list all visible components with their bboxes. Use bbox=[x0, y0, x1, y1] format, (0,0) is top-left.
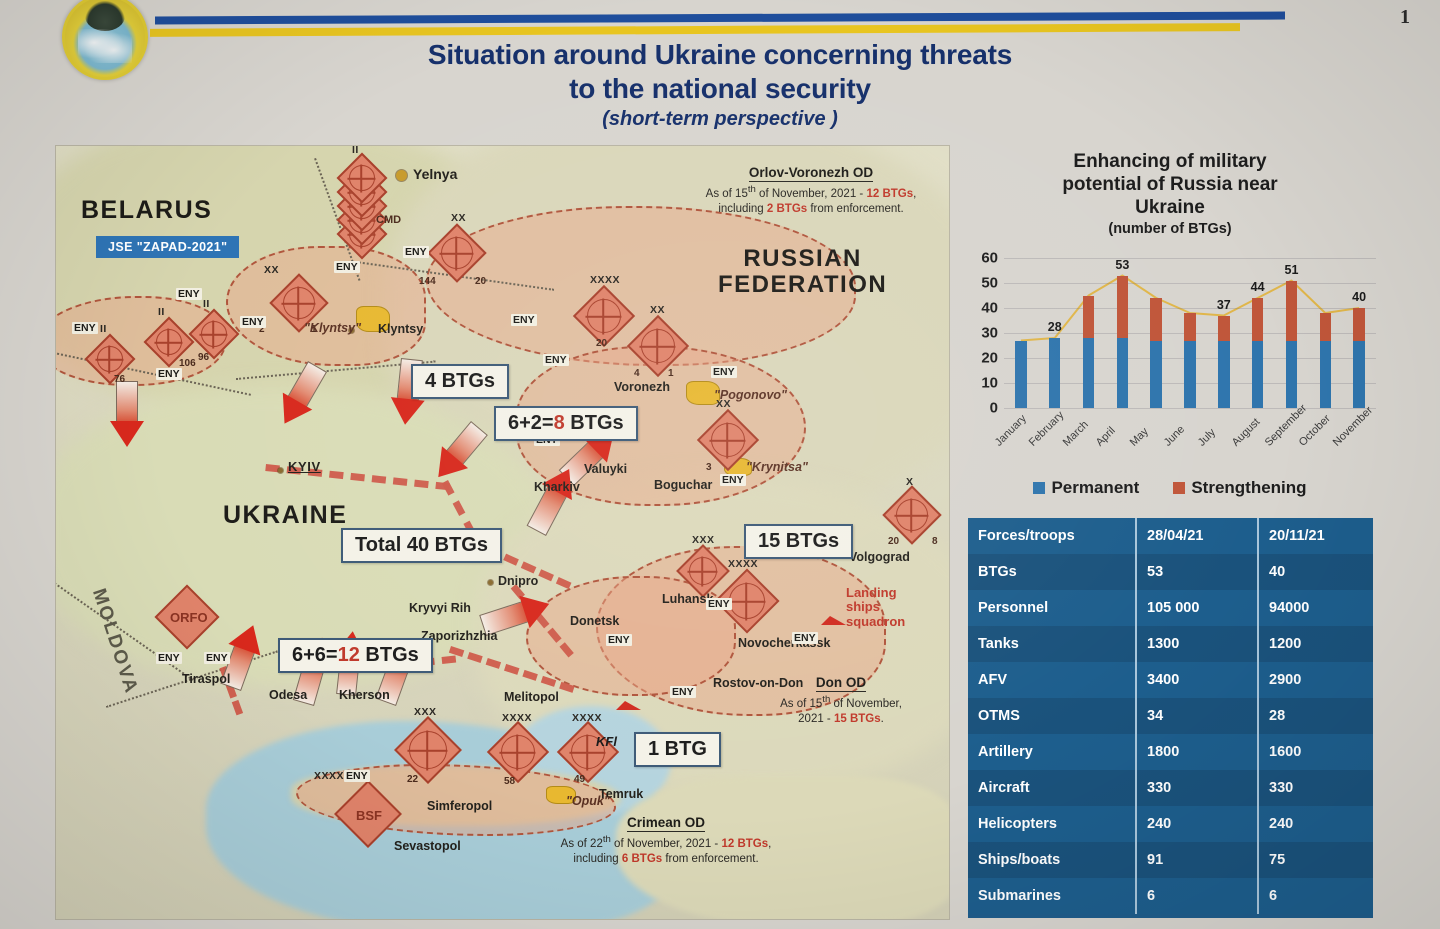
table-row[interactable]: Artillery18001600 bbox=[968, 734, 1373, 770]
page-number: 1 bbox=[1400, 6, 1410, 29]
unit-number-4: 4 bbox=[634, 368, 640, 379]
eny-label: ENY bbox=[240, 316, 266, 328]
eny-label: ENY bbox=[176, 288, 202, 300]
header-bar-yellow bbox=[150, 23, 1240, 37]
table-header-cell: Forces/troops bbox=[968, 518, 1136, 554]
chart-y-tick: 50 bbox=[981, 275, 998, 292]
chart-bar-permanent bbox=[1117, 338, 1128, 408]
unit-number-8: 8 bbox=[932, 536, 938, 547]
table-cell: 28 bbox=[1258, 698, 1373, 734]
od-note-title: Crimean OD bbox=[627, 815, 705, 832]
legend-item-permanent: Permanent bbox=[1033, 478, 1139, 498]
chart-bar-permanent bbox=[1150, 341, 1161, 409]
table-cell: Submarines bbox=[968, 878, 1136, 914]
country-label-ukraine: UKRAINE bbox=[223, 501, 347, 530]
legend-swatch-strengthening bbox=[1173, 482, 1185, 494]
eny-label: ENY bbox=[511, 314, 537, 326]
table-row[interactable]: Aircraft330330 bbox=[968, 770, 1373, 806]
chart-x-axis: JanuaryFebruaryMarchAprilMayJuneJulyAugu… bbox=[1004, 412, 1376, 472]
city-label-melitopol: Melitopol bbox=[504, 690, 559, 704]
chart-bar-permanent bbox=[1049, 338, 1060, 408]
chart-title: Enhancing of military potential of Russi… bbox=[960, 150, 1380, 220]
table-row[interactable]: Tanks13001200 bbox=[968, 626, 1373, 662]
chart-plot-area: 285337445140 bbox=[1004, 258, 1376, 408]
table-row[interactable]: Helicopters240240 bbox=[968, 806, 1373, 842]
landing-ships-squadron-label: Landing ships squadron bbox=[846, 586, 905, 629]
landing-ship-icon-azov bbox=[616, 701, 641, 710]
city-label-kryvyi-rih: Kryvyi Rih bbox=[409, 601, 471, 615]
city-label-klyntsy: Klyntsy bbox=[378, 322, 423, 336]
table-cell: Helicopters bbox=[968, 806, 1136, 842]
eny-label: ENY bbox=[204, 652, 230, 664]
chart-bar-strengthening bbox=[1353, 308, 1364, 341]
chart-x-tick: October bbox=[1297, 413, 1333, 449]
callout-8-btgs: 6+2=8 BTGs bbox=[494, 406, 638, 441]
table-row[interactable]: AFV34002900 bbox=[968, 662, 1373, 698]
table-row[interactable]: Ships/boats9175 bbox=[968, 842, 1373, 878]
city-label-dnipro: Dnipro bbox=[498, 574, 538, 588]
chart-bar-permanent bbox=[1015, 341, 1026, 409]
eny-label: ENY bbox=[670, 686, 696, 698]
table-cell: Personnel bbox=[968, 590, 1136, 626]
table-header-cell: 28/04/21 bbox=[1136, 518, 1258, 554]
chart-gridline bbox=[1004, 408, 1376, 409]
table-header-cell: 20/11/21 bbox=[1258, 518, 1373, 554]
unit-number-22: 22 bbox=[407, 774, 418, 785]
city-label-boguchar: Boguchar bbox=[654, 478, 712, 492]
table-row[interactable]: BTGs5340 bbox=[968, 554, 1373, 590]
chart-bar bbox=[1353, 258, 1364, 408]
chart-bar-strengthening bbox=[1320, 313, 1331, 341]
city-label-donetsk: Donetsk bbox=[570, 614, 619, 628]
callout-15-btgs: 15 BTGs bbox=[744, 524, 853, 559]
unit-number-76: 76 bbox=[114, 374, 125, 385]
echelon-label-106: II bbox=[158, 306, 165, 318]
table-row[interactable]: Submarines66 bbox=[968, 878, 1373, 914]
table-cell: Ships/boats bbox=[968, 842, 1136, 878]
chart-legend: Permanent Strengthening bbox=[960, 478, 1380, 498]
legend-label-strengthening: Strengthening bbox=[1191, 478, 1306, 498]
city-label-volgograd: Volgograd bbox=[849, 550, 910, 564]
eny-label: ENY bbox=[720, 474, 746, 486]
table-cell: OTMS bbox=[968, 698, 1136, 734]
slide-header: 1 Situation around Ukraine concerning th… bbox=[0, 0, 1440, 140]
landing-ship-icon-don bbox=[821, 616, 846, 625]
od-note-title: Don OD bbox=[816, 675, 866, 692]
chart-bar-strengthening bbox=[1252, 298, 1263, 341]
table-cell: 53 bbox=[1136, 554, 1258, 590]
city-label-kharkiv: Kharkiv bbox=[534, 480, 580, 494]
callout-1-btg: 1 BTG bbox=[634, 732, 721, 767]
city-label-kyiv: KYIV bbox=[288, 459, 321, 474]
chart-data-label: 40 bbox=[1352, 290, 1366, 304]
table-cell: 91 bbox=[1136, 842, 1258, 878]
city-dot-kyiv bbox=[278, 468, 283, 473]
chart-bar-strengthening bbox=[1184, 313, 1195, 341]
chart-x-tick: February bbox=[1026, 409, 1066, 449]
echelon-label-4-1: XX bbox=[650, 304, 665, 316]
site-label-pogonovo: "Pogonovo" bbox=[714, 388, 787, 402]
legend-swatch-permanent bbox=[1033, 482, 1045, 494]
echelon-label-bsf: XXXX bbox=[314, 770, 344, 782]
table-cell: 34 bbox=[1136, 698, 1258, 734]
od-note-body: As of 15th of November, 2021 - 12 BTGs, … bbox=[666, 184, 950, 218]
table-cell: 40 bbox=[1258, 554, 1373, 590]
chart-bar bbox=[1117, 258, 1128, 408]
echelon-label-144: XX bbox=[451, 212, 466, 224]
eny-label: ENY bbox=[344, 770, 370, 782]
eny-label: ENY bbox=[156, 652, 182, 664]
country-label-belarus: BELARUS bbox=[81, 196, 212, 225]
unit-number-3: 3 bbox=[706, 462, 712, 473]
forces-comparison-table-panel[interactable]: Forces/troops28/04/2120/11/21BTGs5340Per… bbox=[968, 518, 1373, 918]
eny-label: ENY bbox=[792, 632, 818, 644]
table-cell: AFV bbox=[968, 662, 1136, 698]
unit-number-1b: 1 bbox=[668, 368, 674, 379]
chart-data-label: 28 bbox=[1048, 320, 1062, 334]
chart-bar-strengthening bbox=[1286, 281, 1297, 341]
unit-number-49: 49 bbox=[574, 774, 585, 785]
chart-bar-permanent bbox=[1320, 341, 1331, 409]
chart-y-tick: 0 bbox=[990, 400, 998, 417]
situation-map[interactable]: II CMD Yelnya XX 144 20 XX 2 1 II 96 II … bbox=[55, 145, 950, 920]
od-note-don: Don OD As of 15th of November, 2021 - 15… bbox=[726, 674, 950, 728]
echelon-label-49: XXXX bbox=[572, 712, 602, 724]
unit-number-96: 96 bbox=[198, 352, 209, 363]
chart-subtitle: (number of BTGs) bbox=[960, 221, 1380, 237]
chart-data-label: 37 bbox=[1217, 298, 1231, 312]
chart-bar bbox=[1184, 258, 1195, 408]
table-cell: 3400 bbox=[1136, 662, 1258, 698]
eny-label: ENY bbox=[403, 246, 429, 258]
chart-bar bbox=[1320, 258, 1331, 408]
eny-label: ENY bbox=[606, 634, 632, 646]
table-cell: 1200 bbox=[1258, 626, 1373, 662]
chart-bar bbox=[1150, 258, 1161, 408]
page-title-line1: Situation around Ukraine concerning thre… bbox=[0, 38, 1440, 72]
eny-label: ENY bbox=[156, 368, 182, 380]
table-cell: 240 bbox=[1136, 806, 1258, 842]
site-label-klyntsy: "Klyntsy" bbox=[304, 321, 361, 335]
city-label-simferopol: Simferopol bbox=[427, 799, 492, 813]
chart-x-tick: January bbox=[993, 413, 1029, 449]
chart-y-tick: 30 bbox=[981, 325, 998, 342]
chart-plot: 6050403020100 285337445140 bbox=[960, 258, 1380, 408]
table-cell: 330 bbox=[1136, 770, 1258, 806]
city-label-voronezh: Voronezh bbox=[614, 380, 670, 394]
echelon-label-76: II bbox=[100, 323, 107, 335]
unit-number-20c: 20 bbox=[888, 536, 899, 547]
chart-y-tick: 40 bbox=[981, 300, 998, 317]
chart-x-tick: March bbox=[1060, 419, 1090, 449]
legend-item-strengthening: Strengthening bbox=[1173, 478, 1306, 498]
chart-bar-permanent bbox=[1218, 341, 1229, 409]
od-note-title: Orlov-Voronezh OD bbox=[749, 165, 873, 182]
echelon-label-96: II bbox=[203, 298, 210, 310]
city-dot-dnipro bbox=[488, 580, 493, 585]
forces-comparison-table: Forces/troops28/04/2120/11/21BTGs5340Per… bbox=[968, 518, 1373, 914]
unit-number-144: 144 bbox=[419, 276, 436, 287]
eny-label: ENY bbox=[72, 322, 98, 334]
chart-bar-permanent bbox=[1184, 341, 1195, 409]
unit-number-20b: 20 bbox=[596, 338, 607, 349]
chart-y-tick: 20 bbox=[981, 350, 998, 367]
echelon-label-2: XX bbox=[264, 264, 279, 276]
table-cell: BTGs bbox=[968, 554, 1136, 590]
chart-x-tick: June bbox=[1162, 423, 1187, 448]
page-subtitle: (short-term perspective ) bbox=[0, 108, 1440, 131]
table-cell: Artillery bbox=[968, 734, 1136, 770]
table-row[interactable]: OTMS3428 bbox=[968, 698, 1373, 734]
chart-bar bbox=[1286, 258, 1297, 408]
od-note-body: As of 22th of November, 2021 - 12 BTGs, … bbox=[516, 834, 816, 868]
table-row[interactable]: Personnel105 00094000 bbox=[968, 590, 1373, 626]
city-label-kherson: Kherson bbox=[339, 688, 390, 702]
eny-label: ENY bbox=[711, 366, 737, 378]
chart-y-tick: 10 bbox=[981, 375, 998, 392]
chart-data-label: 44 bbox=[1251, 280, 1265, 294]
eny-label: ENY bbox=[543, 354, 569, 366]
unit-number-bsf: BSF bbox=[356, 808, 382, 823]
table-cell: 2900 bbox=[1258, 662, 1373, 698]
chart-bar-permanent bbox=[1353, 341, 1364, 409]
kfl-label: KFl bbox=[596, 734, 617, 749]
chart-bar bbox=[1083, 258, 1094, 408]
table-cell: Aircraft bbox=[968, 770, 1136, 806]
city-dot-yelnya bbox=[396, 170, 407, 181]
chart-y-tick: 60 bbox=[981, 250, 998, 267]
chart-data-label: 51 bbox=[1285, 263, 1299, 277]
table-cell: 240 bbox=[1258, 806, 1373, 842]
chart-x-tick: July bbox=[1196, 426, 1218, 448]
unit-number-20a: 20 bbox=[475, 276, 486, 287]
chart-x-tick: August bbox=[1229, 416, 1262, 449]
echelon-label-20-8: X bbox=[906, 476, 914, 488]
chart-bar-strengthening bbox=[1218, 316, 1229, 341]
table-cell: 330 bbox=[1258, 770, 1373, 806]
chart-bar bbox=[1218, 258, 1229, 408]
chart-data-label: 53 bbox=[1115, 258, 1129, 272]
chart-y-axis: 6050403020100 bbox=[960, 258, 998, 408]
table-cell: 105 000 bbox=[1136, 590, 1258, 626]
chart-bar-strengthening bbox=[1150, 298, 1161, 341]
chart-bar-permanent bbox=[1083, 338, 1094, 408]
city-label-yelnya: Yelnya bbox=[413, 166, 457, 182]
table-cell: 1600 bbox=[1258, 734, 1373, 770]
callout-4-btgs: 4 BTGs bbox=[411, 364, 509, 399]
callout-12-btgs: 6+6=12 BTGs bbox=[278, 638, 433, 673]
unit-number-cmd: CMD bbox=[376, 214, 401, 226]
unit-number-58: 58 bbox=[504, 776, 515, 787]
chart-bar-permanent bbox=[1286, 341, 1297, 409]
table-cell: 1800 bbox=[1136, 734, 1258, 770]
eny-label: ENY bbox=[706, 598, 732, 610]
legend-label-permanent: Permanent bbox=[1051, 478, 1139, 498]
od-note-orlov-voronezh: Orlov-Voronezh OD As of 15th of November… bbox=[666, 164, 950, 218]
site-label-opuk: "Opuk" bbox=[566, 794, 610, 808]
city-label-sevastopol: Sevastopol bbox=[394, 839, 461, 853]
table-cell: 1300 bbox=[1136, 626, 1258, 662]
table-header-row: Forces/troops28/04/2120/11/21 bbox=[968, 518, 1373, 554]
od-note-crimean: Crimean OD As of 22th of November, 2021 … bbox=[516, 814, 816, 868]
od-note-body: As of 15th of November, 2021 - 15 BTGs. bbox=[726, 694, 950, 728]
chart-x-tick: April bbox=[1094, 425, 1118, 449]
echelon-label-cmd-stack: II bbox=[352, 145, 359, 156]
page-title-line2: to the national security bbox=[0, 72, 1440, 106]
chart-bar-strengthening bbox=[1083, 296, 1094, 339]
chart-x-tick: May bbox=[1128, 426, 1151, 449]
callout-total-40-btgs: Total 40 BTGs bbox=[341, 528, 502, 563]
jse-zapad-badge: JSE "ZAPAD-2021" bbox=[96, 236, 239, 258]
table-cell: 6 bbox=[1258, 878, 1373, 914]
echelon-label-58: XXXX bbox=[502, 712, 532, 724]
echelon-label-luhansk: XXX bbox=[692, 534, 715, 546]
chart-bar-permanent bbox=[1252, 341, 1263, 409]
city-label-tiraspol: Tiraspol bbox=[182, 672, 230, 686]
echelon-label-8-army: XXXX bbox=[728, 558, 758, 570]
title-block: Situation around Ukraine concerning thre… bbox=[0, 38, 1440, 131]
chart-bar-strengthening bbox=[1117, 276, 1128, 339]
header-bar-blue bbox=[155, 12, 1285, 25]
country-label-russian-federation: RUSSIANFEDERATION bbox=[718, 246, 887, 298]
table-cell: 6 bbox=[1136, 878, 1258, 914]
city-label-odesa: Odesa bbox=[269, 688, 307, 702]
site-label-krynitsa: "Krynitsa" bbox=[746, 460, 808, 474]
table-cell: 94000 bbox=[1258, 590, 1373, 626]
eny-label: ENY bbox=[334, 261, 360, 273]
btg-chart-panel: Enhancing of military potential of Russi… bbox=[960, 150, 1380, 510]
echelon-label-20-army: XXXX bbox=[590, 274, 620, 286]
city-label-valuyki: Valuyki bbox=[584, 462, 627, 476]
table-cell: Tanks bbox=[968, 626, 1136, 662]
chart-bar bbox=[1015, 258, 1026, 408]
chart-x-tick: November bbox=[1331, 404, 1375, 448]
table-cell: 75 bbox=[1258, 842, 1373, 878]
echelon-label-22: XXX bbox=[414, 706, 437, 718]
unit-number-orfo: ORFO bbox=[170, 610, 208, 625]
